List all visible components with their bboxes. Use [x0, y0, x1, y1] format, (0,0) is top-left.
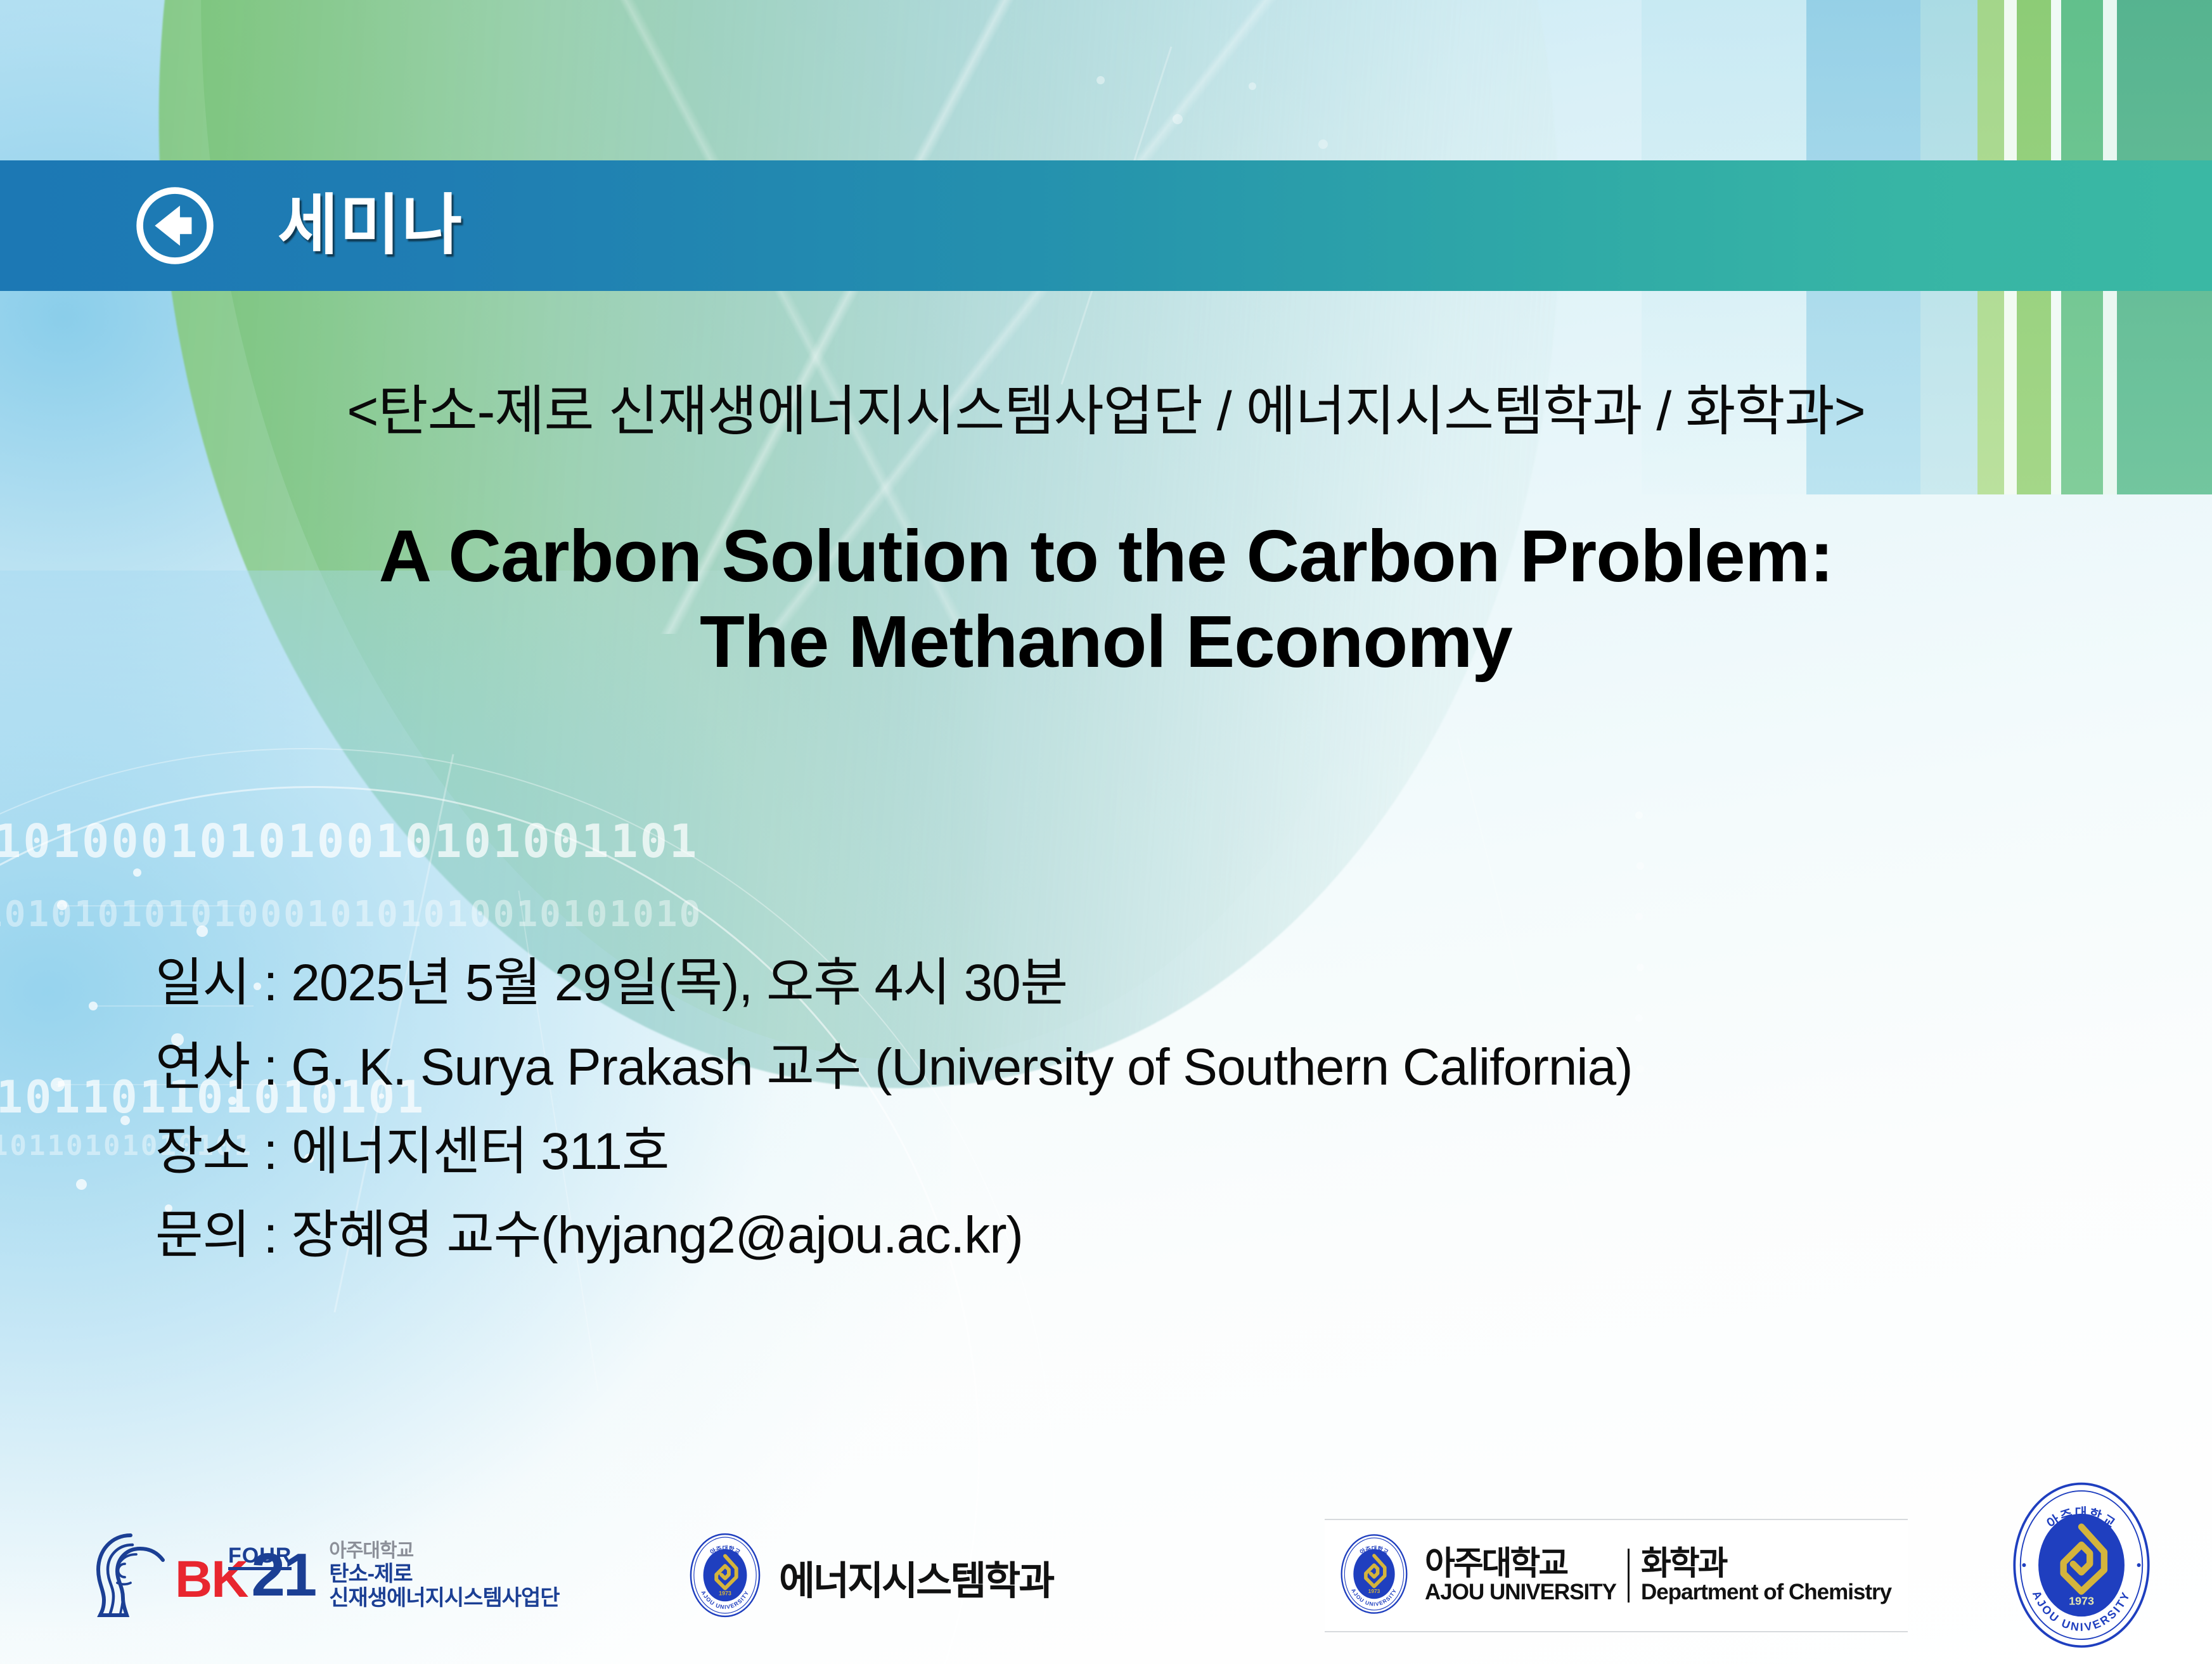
header-title: 세미나: [278, 193, 463, 259]
detail-datetime: 일시 : 2025년 5월 29일(목), 오후 4시 30분: [155, 941, 2025, 1026]
bk21-four-label: FOUR: [228, 1545, 292, 1570]
bk21-logo: FOUR BK 21 아주대학교 탄소-제로 신재생에너지시스템사업단: [89, 1528, 560, 1623]
ajou-university-seal-logo: 1973 아주대학교 AJOU UNIVERSITY: [2009, 1480, 2154, 1653]
chemistry-wordmark: 아주대학교 AJOU UNIVERSITY 화학과 Department of …: [1425, 1547, 1891, 1604]
chemistry-university-kr: 아주대학교: [1425, 1547, 1616, 1581]
seminar-title-line-2: The Methanol Economy: [0, 599, 2212, 685]
energy-systems-dept-logo: 1973 아주대학교 AJOU UNIVERSITY 에너지시스템학과: [688, 1531, 1053, 1623]
chemistry-dept-logo: 1973 아주대학교 AJOU UNIVERSITY 아주대학교 AJOU UN…: [1325, 1519, 1908, 1632]
detail-contact: 문의 : 장혜영 교수(hyjang2@ajou.ac.kr): [155, 1194, 2025, 1278]
header-bar: 세미나: [0, 160, 2212, 291]
bk21-program-line-2: 신재생에너지시스템사업단: [329, 1586, 559, 1610]
bk21-program-text: 아주대학교 탄소-제로 신재생에너지시스템사업단: [329, 1540, 559, 1610]
detail-speaker: 연사 : G. K. Surya Prakash 교수 (University …: [155, 1026, 2025, 1110]
detail-location: 장소 : 에너지센터 311호: [155, 1110, 2025, 1194]
binary-decoration-row: 1010101010100010101010010101010: [0, 894, 702, 935]
seminar-details: 일시 : 2025년 5월 29일(목), 오후 4시 30분 연사 : G. …: [155, 941, 2025, 1278]
chemistry-divider: [1628, 1549, 1630, 1603]
poster-canvas: 101000101010010101001101 101010101010001…: [0, 0, 2212, 1664]
seminar-title: A Carbon Solution to the Carbon Problem:…: [0, 513, 2212, 684]
ajou-university-seal-icon: 1973 아주대학교 AJOU UNIVERSITY: [688, 1531, 762, 1623]
energy-systems-dept-label: 에너지시스템학과: [779, 1549, 1053, 1606]
chemistry-department-kr: 화학과: [1641, 1547, 1891, 1581]
seminar-subtitle: <탄소-제로 신재생에너지시스템사업단 / 에너지시스템학과 / 화학과>: [0, 366, 2212, 446]
ajou-university-seal-icon: 1973 아주대학교 AJOU UNIVERSITY: [1339, 1532, 1410, 1620]
binary-decoration-row: 101000101010010101001101: [0, 815, 698, 868]
bk21-head-icon: [89, 1528, 184, 1623]
back-arrow-circle-icon[interactable]: [133, 184, 217, 268]
ajou-university-seal-icon: 1973 아주대학교 AJOU UNIVERSITY: [2009, 1480, 2154, 1653]
svg-text:1973: 1973: [1368, 1588, 1380, 1594]
bk21-wordmark: FOUR BK 21: [175, 1547, 315, 1603]
svg-text:1973: 1973: [719, 1590, 731, 1596]
ajou-seal-year: 1973: [2069, 1594, 2094, 1607]
chemistry-university-block: 아주대학교 AJOU UNIVERSITY: [1425, 1547, 1616, 1604]
chemistry-university-en: AJOU UNIVERSITY: [1425, 1581, 1616, 1604]
seminar-title-line-1: A Carbon Solution to the Carbon Problem:: [0, 513, 2212, 599]
bk21-university-label: 아주대학교: [329, 1540, 559, 1562]
bk21-program-line-1: 탄소-제로: [329, 1562, 559, 1586]
chemistry-department-block: 화학과 Department of Chemistry: [1641, 1547, 1891, 1604]
chemistry-department-en: Department of Chemistry: [1641, 1581, 1891, 1604]
